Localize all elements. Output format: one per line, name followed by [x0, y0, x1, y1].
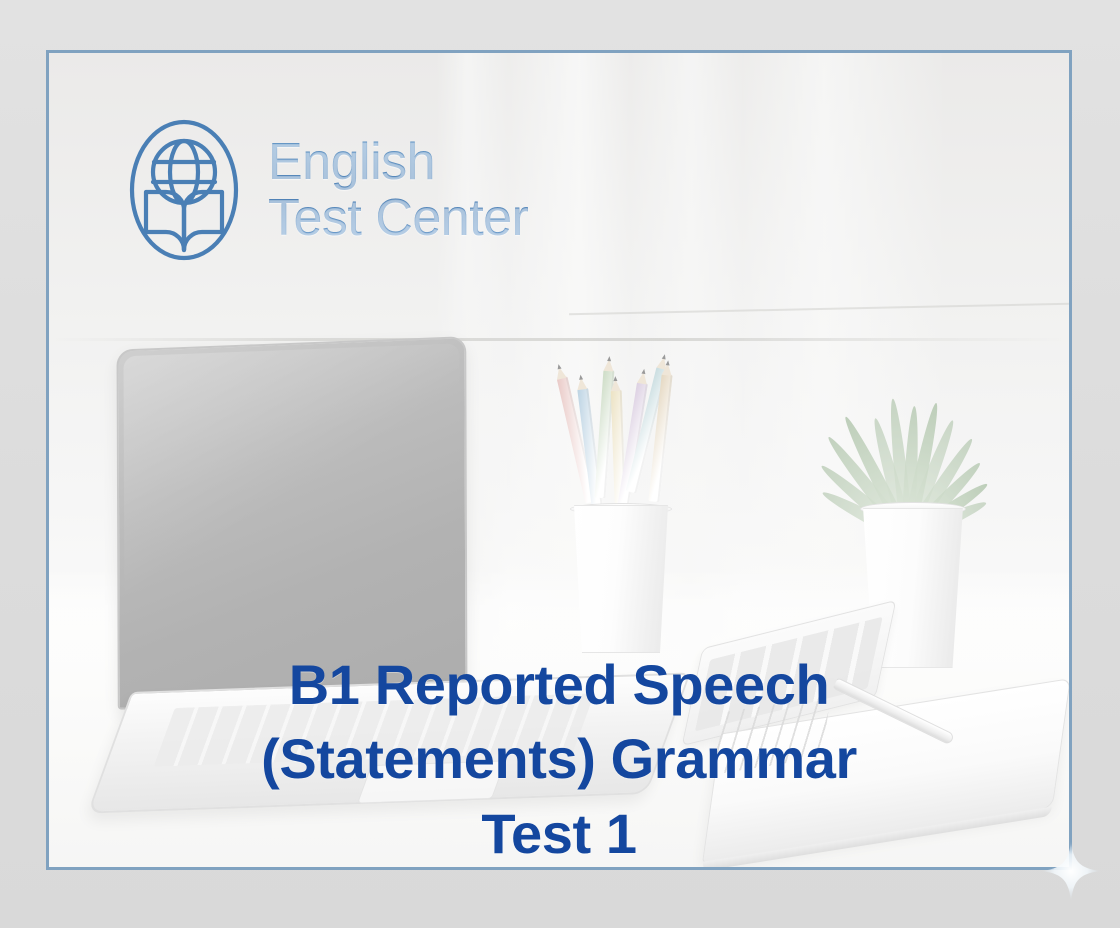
brand-logo: English Test Center [124, 115, 528, 265]
page-title-line-1: B1 Reported Speech [289, 653, 830, 716]
cup-body [571, 505, 671, 653]
brand-logo-line-2: Test Center [268, 190, 528, 246]
sparkle-icon [1040, 840, 1102, 902]
page-title-line-2: (Statements) Grammar [261, 727, 857, 790]
screenshot-root: English Test Center B1 Reported Speech (… [0, 0, 1120, 928]
brand-logo-text: English Test Center [268, 134, 528, 246]
promo-card: English Test Center B1 Reported Speech (… [46, 50, 1072, 870]
page-title: B1 Reported Speech (Statements) Grammar … [129, 648, 989, 870]
pencil-cup-illustration [557, 373, 687, 673]
colored-pencils [569, 373, 679, 518]
brand-logo-line-1: English [268, 134, 528, 190]
page-title-line-3: Test 1 [481, 802, 636, 865]
globe-book-logo-icon [124, 115, 244, 265]
